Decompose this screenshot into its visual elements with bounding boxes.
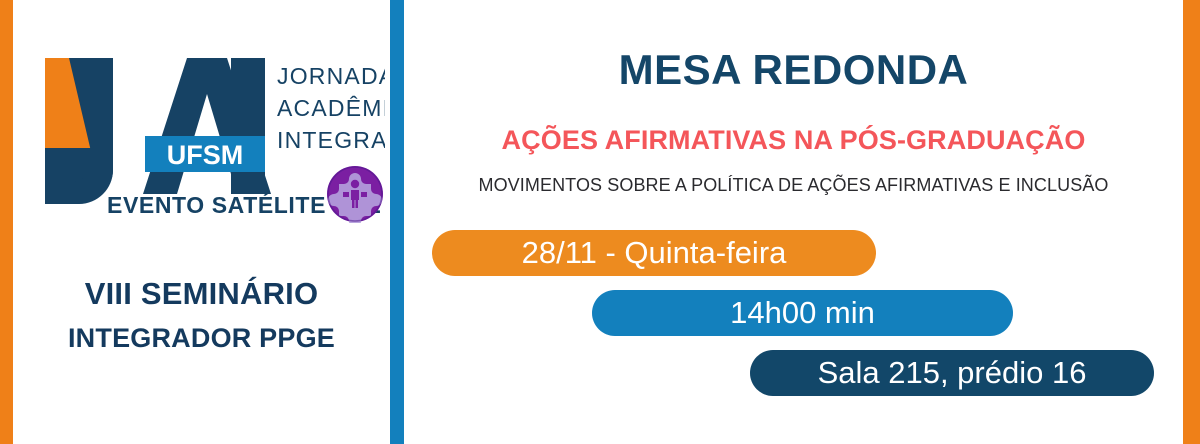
left-orange-edge-bar <box>0 0 13 444</box>
event-headline: MESA REDONDA <box>404 46 1183 94</box>
jai-expansion-lines: JORNADA ACADÊMICA INTEGRADA <box>277 63 385 153</box>
event-time-pill: 14h00 min <box>592 290 1013 336</box>
right-panel: MESA REDONDA AÇÕES AFIRMATIVAS NA PÓS-GR… <box>404 0 1183 444</box>
ufsm-badge-label: UFSM <box>167 140 244 170</box>
logo-line-jornada: JORNADA <box>277 63 385 89</box>
left-panel: UFSM JORNADA ACADÊMICA INTEGRADA EVENTO … <box>13 0 390 444</box>
logo-line-integrada: INTEGRADA <box>277 127 385 153</box>
seminar-title-line-1: VIII SEMINÁRIO <box>13 275 390 314</box>
logo-line-academica: ACADÊMICA <box>277 95 385 121</box>
event-banner: UFSM JORNADA ACADÊMICA INTEGRADA EVENTO … <box>0 0 1200 444</box>
event-tagline: MOVIMENTOS SOBRE A POLÍTICA DE AÇÕES AFI… <box>404 175 1183 196</box>
jai-ufsm-logo: UFSM JORNADA ACADÊMICA INTEGRADA EVENTO … <box>35 48 385 223</box>
event-location-pill: Sala 215, prédio 16 <box>750 350 1154 396</box>
vertical-blue-divider <box>390 0 404 444</box>
event-subject: AÇÕES AFIRMATIVAS NA PÓS-GRADUAÇÃO <box>404 125 1183 156</box>
ufsm-badge: UFSM <box>145 136 265 172</box>
seminar-title-block: VIII SEMINÁRIO INTEGRADOR PPGE <box>13 275 390 356</box>
right-orange-edge-bar <box>1183 0 1200 444</box>
event-date-pill: 28/11 - Quinta-feira <box>432 230 876 276</box>
seminar-title-line-2: INTEGRADOR PPGE <box>13 322 390 356</box>
jai-i-shape <box>231 58 265 194</box>
